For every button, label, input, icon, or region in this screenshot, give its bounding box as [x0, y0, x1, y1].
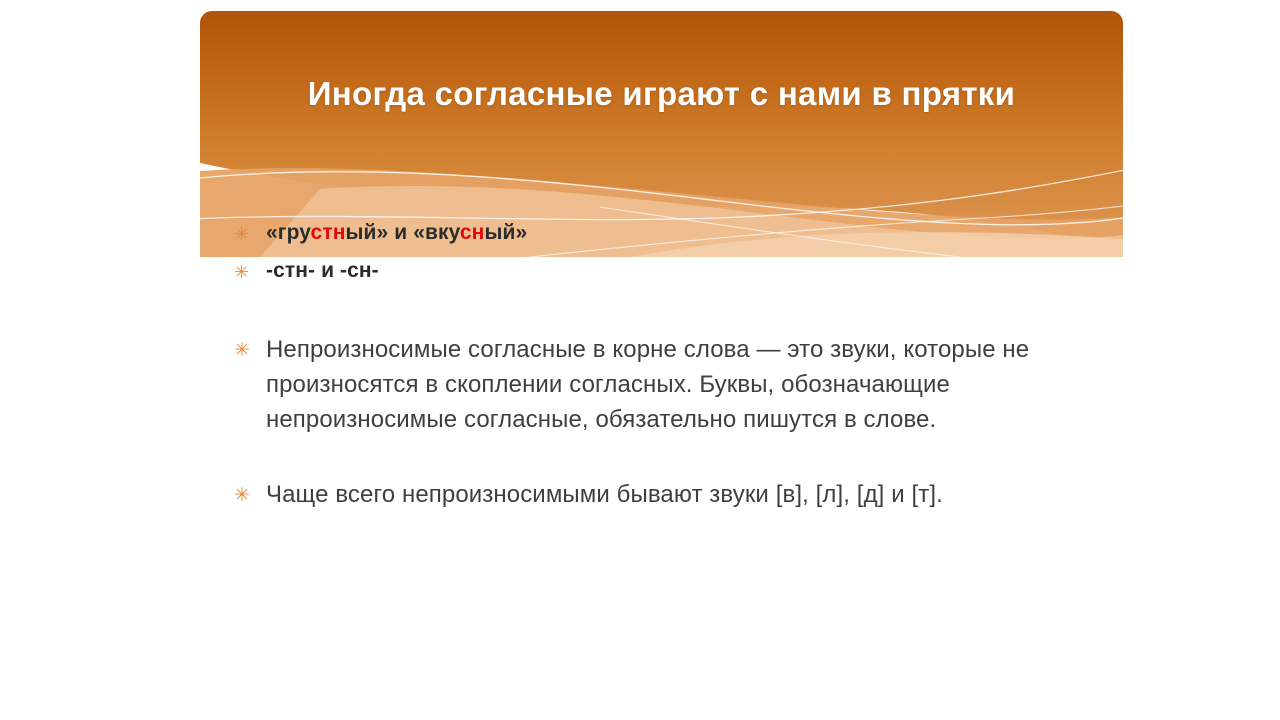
highlighted-segment: стн: [311, 221, 346, 244]
bullet-asterisk-icon: ✳: [234, 477, 266, 505]
bullet-asterisk-icon: ✳: [234, 218, 266, 243]
slide-body: ✳ «грустный» и «вкусный» ✳ -стн- и -сн- …: [234, 218, 1134, 518]
bullet-asterisk-icon: ✳: [234, 332, 266, 360]
text-segment: ый»: [484, 221, 527, 244]
spacer: [234, 294, 1134, 332]
list-item: ✳ Чаще всего непроизносимыми бывают звук…: [234, 477, 1134, 512]
text-segment: «гру: [266, 221, 311, 244]
bullet-asterisk-icon: ✳: [234, 256, 266, 281]
bullet-definition-text: Непроизносимые согласные в корне слова —…: [266, 332, 1134, 437]
bullet-words-text: «грустный» и «вкусный»: [266, 218, 1134, 248]
highlighted-segment: сн: [460, 221, 485, 244]
list-item: ✳ -стн- и -сн-: [234, 256, 1134, 286]
presentation-slide: Иногда согласные играют с нами в прятки …: [0, 0, 1280, 720]
spacer: [234, 443, 1134, 477]
bullet-sounds-text: Чаще всего непроизносимыми бывают звуки …: [266, 477, 1134, 512]
list-item: ✳ «грустный» и «вкусный»: [234, 218, 1134, 248]
list-item: ✳ Непроизносимые согласные в корне слова…: [234, 332, 1134, 437]
text-segment: ый» и «вку: [346, 221, 460, 244]
bullet-combos-text: -стн- и -сн-: [266, 256, 1134, 286]
